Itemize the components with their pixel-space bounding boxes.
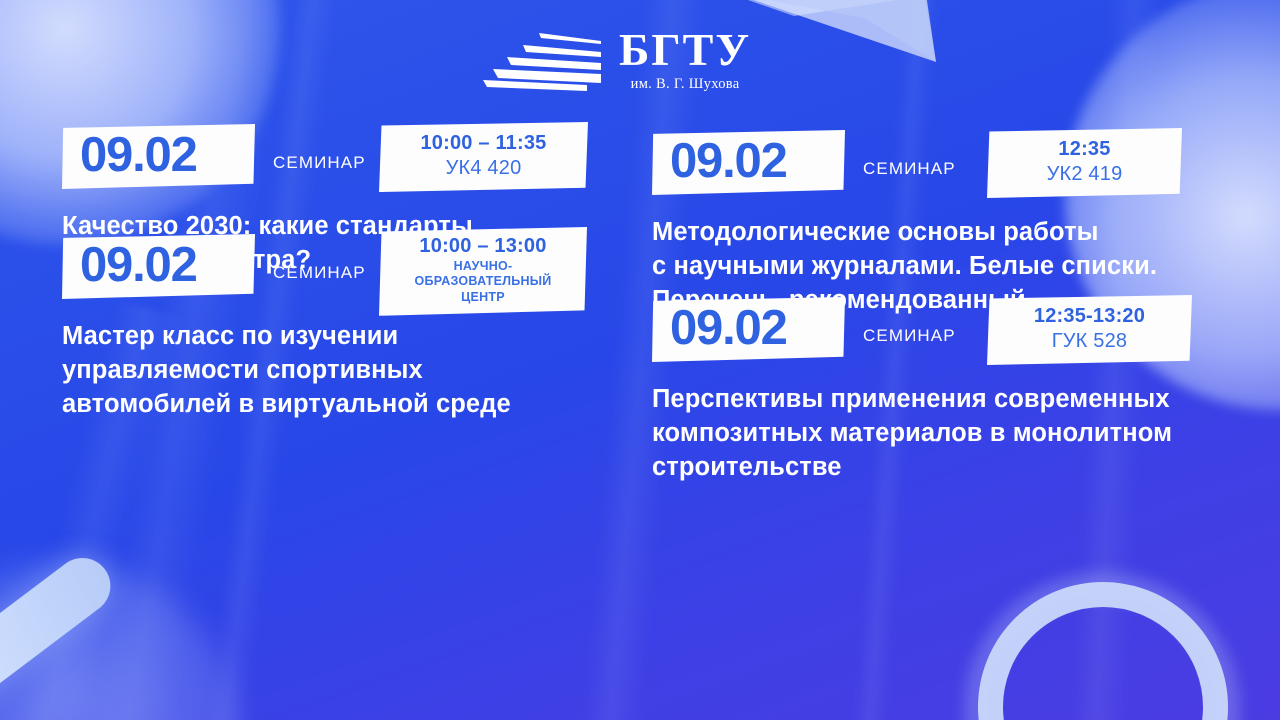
event-date: 09.02 [670,136,825,187]
event-time-plate: 10:00 – 11:35 УК4 420 [379,122,588,192]
event-date-plate: 09.02 [62,124,255,189]
event-date-plate: 09.02 [652,130,845,195]
event-date: 09.02 [80,240,235,291]
light-ring-glow-icon [964,572,1240,720]
bgtu-logo-name: БГТУ [619,27,751,73]
event-room: УК2 419 [1003,162,1166,187]
event-time-plate: 12:35 УК2 419 [987,128,1182,198]
event-kind-label: СЕМИНАР [273,263,366,283]
glow-circle-bottom-left-icon [0,560,240,720]
rounded-light-bar-icon [0,547,122,720]
event-date-plate: 09.02 [62,234,255,299]
event-kind-label: СЕМИНАР [863,326,956,346]
bgtu-logo: БГТУ им. В. Г. Шухова [483,20,753,100]
event-room: УК4 420 [395,156,572,181]
bgtu-fan-emblem-icon [483,29,605,91]
bgtu-logo-text: БГТУ им. В. Г. Шухова [619,27,751,93]
presentation-slide: БГТУ им. В. Г. Шухова 09.02 СЕМИНАР 10:0… [0,0,1280,720]
event-time: 10:00 – 13:00 [395,234,571,259]
light-ring-icon [978,582,1228,720]
event-header: 09.02 СЕМИНАР 10:00 – 11:35 УК4 420 [62,124,632,198]
event-kind-label: СЕМИНАР [273,153,366,173]
event-time-plate: 10:00 – 13:00 НАУЧНО-ОБРАЗОВАТЕЛЬНЫЙ ЦЕН… [379,227,587,316]
bgtu-logo-subtitle: им. В. Г. Шухова [631,76,740,93]
event-time: 12:35 [1003,137,1166,162]
event-date: 09.02 [80,130,235,181]
event-time: 12:35-13:20 [1003,304,1176,329]
event-title: Мастер класс по изучении управляемости с… [62,320,632,422]
event-room: ГУК 528 [1003,329,1176,354]
event-kind-label: СЕМИНАР [863,159,956,179]
event-header: 09.02 СЕМИНАР 12:35 УК2 419 [652,130,1248,204]
event-room: НАУЧНО-ОБРАЗОВАТЕЛЬНЫЙ ЦЕНТР [395,259,571,305]
event-card[interactable]: 09.02 СЕМИНАР 12:35-13:20 ГУК 528 Перспе… [652,297,1248,485]
event-time: 10:00 – 11:35 [395,131,572,156]
event-time-plate: 12:35-13:20 ГУК 528 [987,295,1192,365]
event-date-plate: 09.02 [652,297,845,362]
event-title: Перспективы применения современных компо… [652,383,1248,485]
event-date: 09.02 [670,303,825,354]
event-header: 09.02 СЕМИНАР 10:00 – 13:00 НАУЧНО-ОБРАЗ… [62,234,632,308]
event-header: 09.02 СЕМИНАР 12:35-13:20 ГУК 528 [652,297,1248,371]
event-card[interactable]: 09.02 СЕМИНАР 10:00 – 13:00 НАУЧНО-ОБРАЗ… [62,234,632,422]
